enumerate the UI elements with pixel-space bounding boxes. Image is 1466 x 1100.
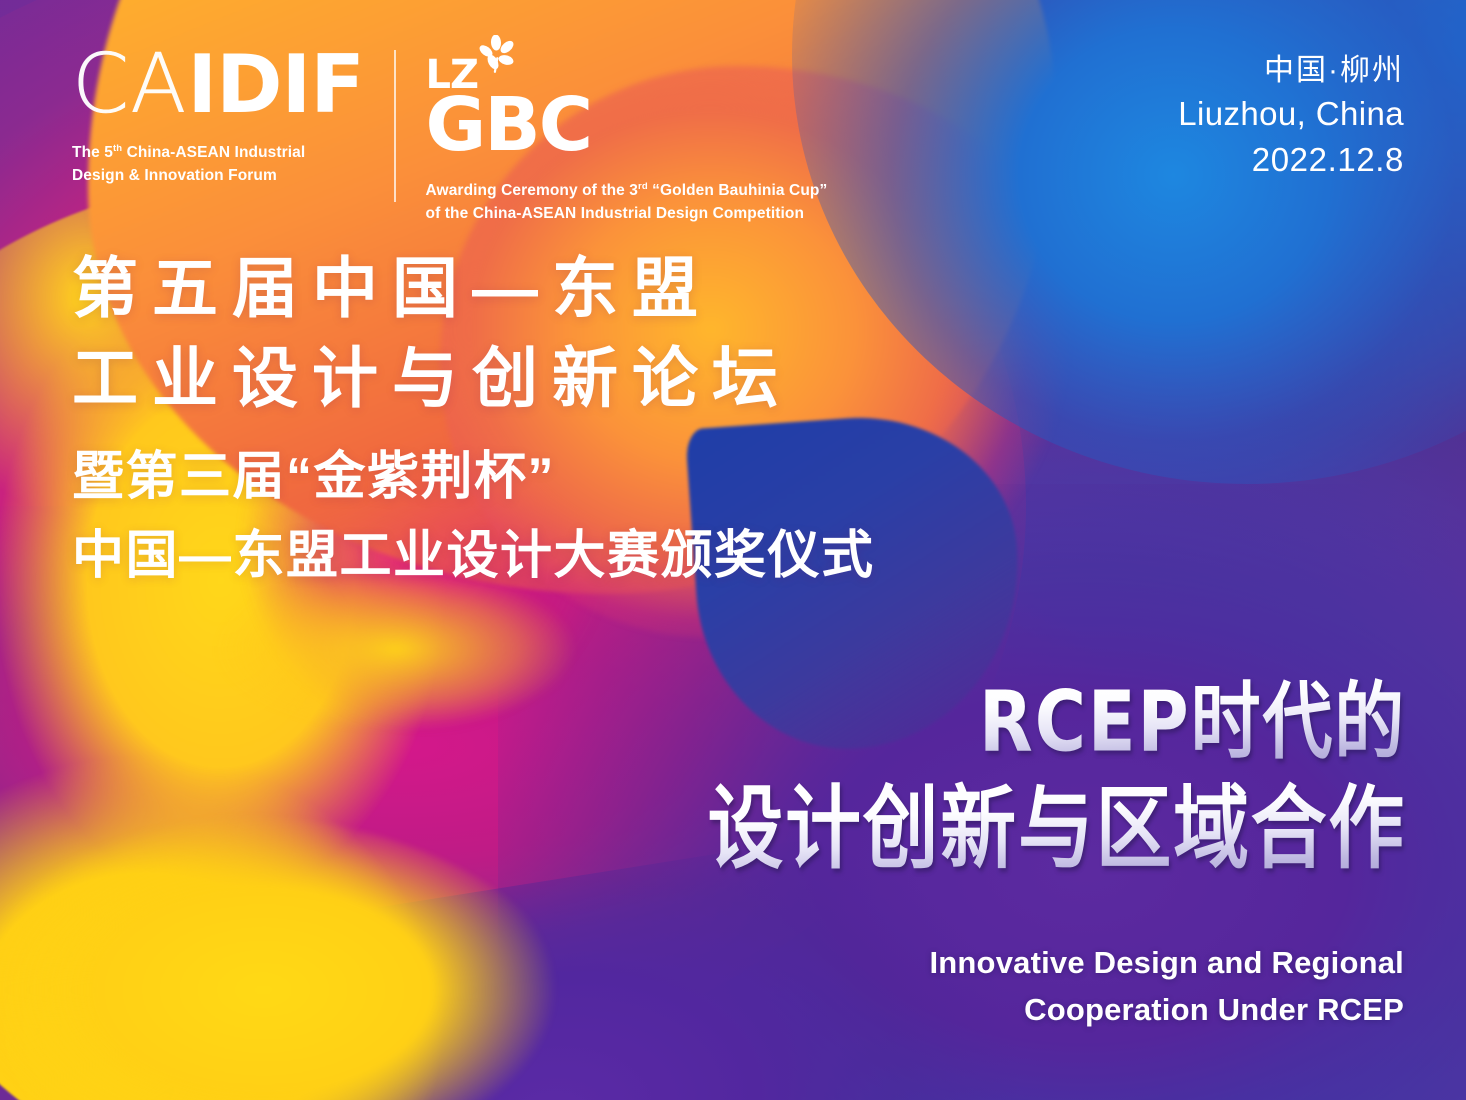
theme-english-line2: Cooperation Under RCEP bbox=[929, 987, 1404, 1034]
caidif-subtitle-ordinal: The 5 bbox=[72, 144, 113, 161]
gbc-subtitle-line2: of the China-ASEAN Industrial Design Com… bbox=[426, 205, 805, 222]
theme-english-line1: Innovative Design and Regional bbox=[929, 940, 1404, 987]
logo-header: CAIDIF The 5th China-ASEAN Industrial De… bbox=[72, 46, 827, 225]
location-english: Liuzhou, China bbox=[1178, 90, 1404, 138]
gbc-wordmark: GBC bbox=[426, 88, 828, 162]
theme-english: Innovative Design and Regional Cooperati… bbox=[929, 940, 1404, 1033]
main-subtitle-line2: 中国—东盟工业设计大赛颁奖仪式 bbox=[72, 517, 875, 596]
main-title-line1: 第五届中国—东盟 bbox=[72, 244, 792, 334]
theme-chinese-line2: 设计创新与区域合作 bbox=[708, 780, 1406, 878]
gbc-subtitle-ordinal-suffix: rd bbox=[638, 181, 648, 192]
gbc-logo: LZ bbox=[426, 46, 828, 225]
caidif-wordmark: CAIDIF bbox=[72, 46, 364, 124]
gbc-lz-wordmark: LZ bbox=[426, 56, 479, 94]
gbc-subtitle: Awarding Ceremony of the 3rd “Golden Bau… bbox=[426, 180, 828, 225]
gbc-lz-row: LZ bbox=[426, 48, 828, 94]
main-subtitle: 暨第三届“金紫荆杯” 中国—东盟工业设计大赛颁奖仪式 bbox=[72, 438, 875, 596]
caidif-logo: CAIDIF The 5th China-ASEAN Industrial De… bbox=[72, 46, 394, 187]
poster-canvas: CAIDIF The 5th China-ASEAN Industrial De… bbox=[0, 0, 1466, 1100]
caidif-subtitle-line1: The 5th China-ASEAN Industrial bbox=[72, 144, 305, 161]
main-title: 第五届中国—东盟 工业设计与创新论坛 bbox=[72, 244, 792, 424]
caidif-subtitle: The 5th China-ASEAN Industrial Design & … bbox=[72, 142, 364, 187]
location-chinese: 中国·柳州 bbox=[1178, 52, 1404, 90]
main-title-line2: 工业设计与创新论坛 bbox=[72, 334, 792, 424]
caidif-wordmark-bold: IDIF bbox=[187, 45, 364, 125]
logo-divider bbox=[394, 50, 396, 202]
poster-content: CAIDIF The 5th China-ASEAN Industrial De… bbox=[0, 0, 1466, 1100]
theme-block: RCEP时代的 设计创新与区域合作 bbox=[686, 690, 1406, 878]
bauhinia-flower-icon bbox=[474, 35, 518, 82]
caidif-wordmark-light: CA bbox=[72, 44, 187, 126]
gbc-subtitle-line1: Awarding Ceremony of the 3rd “Golden Bau… bbox=[426, 182, 828, 199]
caidif-subtitle-line2: Design & Innovation Forum bbox=[72, 167, 277, 184]
gbc-subtitle-line1-rest: “Golden Bauhinia Cup” bbox=[648, 182, 828, 199]
main-subtitle-line1: 暨第三届“金紫荆杯” bbox=[72, 438, 875, 517]
caidif-subtitle-ordinal-suffix: th bbox=[113, 143, 122, 154]
event-date: 2022.12.8 bbox=[1178, 137, 1404, 183]
gbc-subtitle-ordinal: Awarding Ceremony of the 3 bbox=[426, 182, 638, 199]
theme-chinese-line1: RCEP时代的 bbox=[708, 678, 1406, 768]
caidif-subtitle-line1-rest: China-ASEAN Industrial bbox=[122, 144, 305, 161]
location-date-block: 中国·柳州 Liuzhou, China 2022.12.8 bbox=[1178, 52, 1404, 184]
